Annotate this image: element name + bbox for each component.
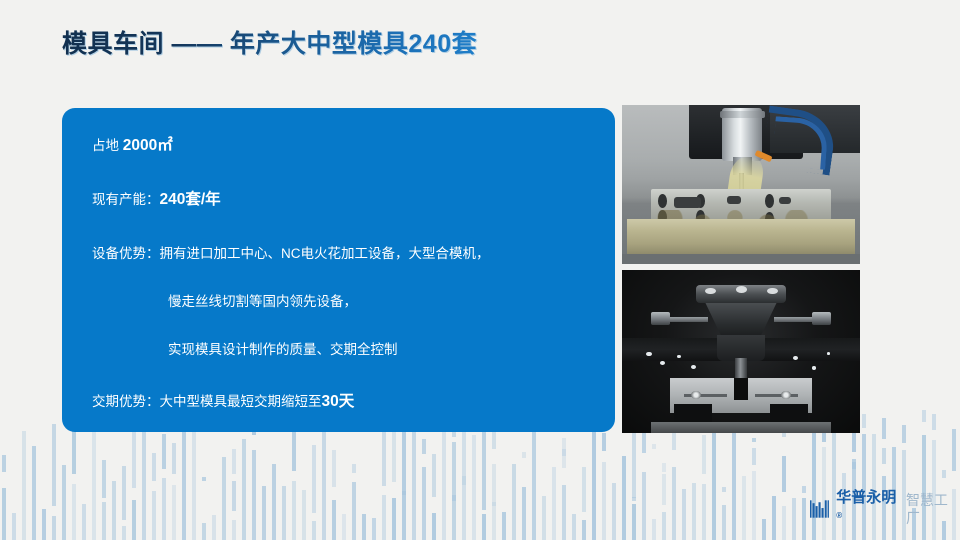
info-line-lead-time: 交期优势：大中型模具最短交期缩短至30天 [92, 392, 589, 412]
decorative-bar [662, 512, 666, 540]
decorative-bar [232, 449, 236, 474]
decorative-bar [652, 519, 656, 540]
head-chip [677, 355, 681, 358]
decorative-bar [422, 439, 426, 454]
decorative-bar [572, 514, 576, 540]
decorative-bar [852, 433, 856, 452]
decorative-bar [32, 446, 36, 540]
decorative-bar [462, 417, 466, 540]
logo-primary-label: 华普永明 [836, 489, 896, 506]
decorative-bar [692, 483, 696, 540]
decorative-bar [142, 429, 146, 540]
decorative-bar [12, 513, 16, 540]
decorative-bar [62, 465, 66, 540]
decorative-bar [552, 467, 556, 540]
decorative-bar [672, 467, 676, 540]
decorative-bar [592, 416, 596, 540]
decorative-bar [852, 462, 856, 469]
decorative-bar [332, 450, 336, 487]
decorative-bar [242, 439, 246, 540]
info-line-equipment: 设备优势：拥有进口加工中心、NC电火花加工设备，大型合模机， [92, 244, 589, 264]
decorative-bar [172, 485, 176, 540]
info-line-equipment-cont1-label: 慢走丝线切割等国内领先设备， [168, 294, 357, 309]
decorative-bar [52, 516, 56, 540]
decorative-bar [562, 485, 566, 540]
decorative-bar [622, 456, 626, 540]
decorative-bar [662, 463, 666, 472]
decorative-bar [722, 505, 726, 540]
decorative-bar [102, 502, 106, 540]
info-line-capacity-value: 240套/年 [160, 191, 221, 208]
decorative-bar [432, 513, 436, 540]
decorative-bar [22, 431, 26, 540]
decorative-bar [652, 444, 656, 449]
decorative-bar [402, 415, 406, 540]
head-plate-boss-right [781, 391, 791, 399]
decorative-bar [152, 491, 156, 540]
decorative-bar [752, 471, 756, 540]
decorative-bar [452, 442, 456, 540]
head-workpiece-cut [734, 378, 748, 401]
decorative-bar [642, 472, 646, 540]
slide-canvas: 模具车间 —— 年产大中型模具240套 占地 2000㎡ 现有产能：240套/年… [0, 0, 960, 540]
decorative-bar [602, 433, 606, 451]
info-line-lead-time-label: 交期优势：大中型模具最短交期缩短至 [92, 394, 322, 409]
decorative-bar [2, 488, 6, 540]
photo-cnc-mill [622, 105, 860, 264]
decorative-bar [952, 429, 956, 471]
decorative-bar [82, 504, 86, 540]
decorative-bar [752, 438, 756, 442]
decorative-bar [562, 449, 566, 456]
decorative-bar [112, 481, 116, 540]
decorative-bar [102, 460, 106, 498]
decorative-bar [802, 486, 806, 493]
decorative-bar [392, 498, 396, 540]
decorative-bar [122, 466, 126, 520]
decorative-bar [372, 518, 376, 540]
decorative-bar [412, 431, 416, 540]
decorative-bar [812, 423, 816, 540]
decorative-bar [202, 523, 206, 540]
decorative-bar [762, 519, 766, 540]
decorative-bar [332, 500, 336, 540]
decorative-bar [732, 418, 736, 540]
decorative-bar [222, 457, 226, 540]
decorative-bar [132, 500, 136, 540]
decorative-bar [92, 423, 96, 540]
mill-workpiece-slot [674, 197, 700, 208]
decorative-bar [682, 489, 686, 540]
page-title-container: 模具车间 —— 年产大中型模具240套 [62, 27, 477, 61]
decorative-bar [262, 486, 266, 540]
decorative-bar [342, 514, 346, 540]
decorative-bar [172, 443, 176, 474]
info-line-equipment-cont2-label: 实现模具设计制作的质量、交期全控制 [168, 342, 398, 357]
head-chip [691, 365, 696, 369]
decorative-bar [602, 462, 606, 540]
decorative-bar [472, 435, 476, 540]
decorative-bar [2, 455, 6, 472]
decorative-bar [632, 504, 636, 540]
decorative-bar [502, 512, 506, 540]
decorative-bar [52, 424, 56, 506]
decorative-bar [522, 487, 526, 540]
decorative-bar [632, 425, 636, 498]
decorative-bar [312, 445, 316, 513]
decorative-bar [582, 520, 586, 540]
decorative-bar [72, 484, 76, 540]
decorative-bar [162, 434, 166, 469]
decorative-bar [402, 491, 406, 495]
decorative-bar [432, 454, 436, 497]
decorative-bar [282, 486, 286, 540]
info-line-area-value: 2000㎡ [123, 137, 173, 154]
head-machine-base [651, 422, 832, 433]
head-chip [827, 352, 831, 355]
decorative-bar [202, 477, 206, 481]
info-line-equipment-cont1: 慢走丝线切割等国内领先设备， [168, 292, 589, 312]
decorative-bar [942, 470, 946, 478]
decorative-bar [932, 414, 936, 430]
decorative-bar [452, 495, 456, 501]
decorative-bar [162, 478, 166, 540]
head-plate-slot-right [755, 394, 798, 397]
decorative-bar [212, 515, 216, 540]
decorative-bar [662, 474, 666, 505]
decorative-bar [702, 435, 706, 474]
decorative-bar [182, 422, 186, 540]
decorative-bar [712, 421, 716, 540]
info-line-equipment-cont2: 实现模具设计制作的质量、交期全控制 [168, 340, 589, 360]
decorative-bar [232, 481, 236, 511]
decorative-bar [232, 520, 236, 540]
info-line-capacity: 现有产能：240套/年 [92, 190, 589, 210]
head-support-block-right [770, 404, 808, 422]
decorative-bar [782, 456, 786, 492]
decorative-bar [902, 425, 906, 443]
decorative-bar [492, 464, 496, 540]
head-plate-boss-left [691, 391, 701, 399]
mill-workpiece-slot [727, 196, 741, 204]
head-tip-right [812, 312, 831, 325]
decorative-bar [442, 429, 446, 540]
decorative-bar [722, 487, 726, 492]
decorative-bar [312, 521, 316, 540]
decorative-bar [582, 467, 586, 512]
info-panel: 占地 2000㎡ 现有产能：240套/年 设备优势：拥有进口加工中心、NC电火花… [62, 108, 615, 432]
info-line-area-label: 占地 [92, 138, 123, 153]
decorative-bar [322, 430, 326, 540]
head-support-block-left [674, 404, 712, 422]
logo-primary-text: 华普永明® [836, 489, 900, 529]
decorative-bar [272, 464, 276, 540]
decorative-bar [802, 498, 806, 540]
photo-cnc-mill-scene [622, 105, 860, 264]
logo-registered-mark: ® [836, 511, 842, 520]
photo-machining-head-scene [622, 270, 860, 433]
head-flange-hole [736, 286, 747, 293]
decorative-bar [192, 432, 196, 540]
decorative-bar [422, 467, 426, 540]
decorative-bar [382, 495, 386, 540]
decorative-bar [702, 484, 706, 540]
decorative-bar [752, 448, 756, 465]
mill-table-edge [622, 254, 860, 264]
decorative-bar [482, 514, 486, 540]
decorative-bar [632, 497, 636, 501]
decorative-bar [352, 464, 356, 473]
decorative-bar [512, 464, 516, 540]
head-tip-left [651, 312, 670, 325]
company-logo: 华普永明® 智慧工厂 [810, 498, 960, 520]
decorative-bar [882, 448, 886, 464]
info-line-capacity-label: 现有产能： [92, 192, 160, 207]
info-line-equipment-label: 设备优势：拥有进口加工中心、NC电火花加工设备，大型合模机， [92, 246, 490, 261]
decorative-bar [542, 496, 546, 540]
decorative-bar [522, 452, 526, 458]
decorative-bar [532, 420, 536, 540]
mill-spindle-ring [720, 111, 765, 117]
decorative-bar [562, 438, 566, 468]
decorative-bar [772, 496, 776, 540]
mill-workpiece-slot [779, 197, 791, 203]
decorative-bar [922, 410, 926, 422]
decorative-bar [352, 482, 356, 540]
decorative-bar [742, 476, 746, 540]
decorative-bar [882, 418, 886, 439]
decorative-bar [862, 414, 866, 428]
decorative-bar [612, 483, 616, 540]
page-title: 模具车间 —— 年产大中型模具240套 [62, 27, 477, 61]
decorative-bar [362, 514, 366, 540]
decorative-bar [292, 481, 296, 540]
info-line-lead-time-value: 30天 [322, 393, 355, 410]
info-line-area: 占地 2000㎡ [92, 136, 589, 156]
photo-machining-head [622, 270, 860, 433]
decorative-bar [492, 502, 496, 506]
decorative-bar [152, 453, 156, 481]
decorative-bar [302, 490, 306, 540]
decorative-bar [42, 509, 46, 540]
decorative-bar [782, 506, 786, 540]
decorative-bar [822, 447, 826, 540]
mill-table [627, 219, 855, 254]
head-chip [646, 352, 652, 357]
logo-secondary-text: 智慧工厂 [906, 491, 960, 527]
decorative-bar [252, 450, 256, 540]
decorative-bar [462, 476, 466, 485]
decorative-bar [122, 526, 126, 540]
bar-chart-logo-icon [810, 500, 830, 518]
decorative-bar [792, 498, 796, 540]
